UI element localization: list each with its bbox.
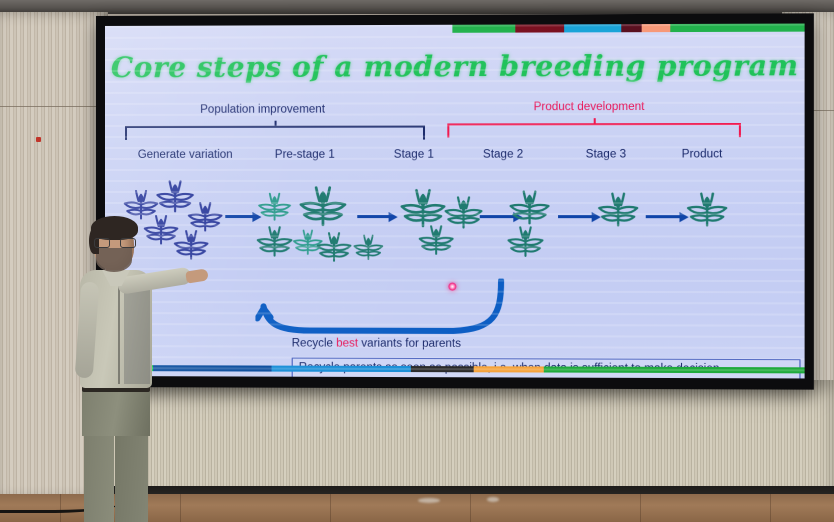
recycle-caption: Recycle best variants for parents xyxy=(292,338,461,351)
plant-icon xyxy=(595,188,642,233)
glasses-icon xyxy=(94,238,136,248)
bracket-product-development xyxy=(447,123,741,138)
plant-icon xyxy=(684,188,731,234)
wall-panel-below-screen xyxy=(95,380,834,490)
shirt-placket xyxy=(118,278,120,384)
stage-label-product: Product xyxy=(682,148,723,160)
plant-icon xyxy=(253,222,295,263)
slide-title: Core steps of a modern breeding program xyxy=(105,49,805,84)
stage-label-pre-stage-1: Pre-stage 1 xyxy=(275,149,335,161)
ceiling xyxy=(0,0,834,14)
conference-room: Core steps of a modern breeding program … xyxy=(0,0,834,522)
floor-reflection xyxy=(418,498,440,503)
flow-arrow xyxy=(646,212,689,220)
plant-icon xyxy=(314,228,354,268)
flow-arrow xyxy=(357,212,397,220)
floor-reflection xyxy=(487,497,499,502)
presentation-slide[interactable]: Core steps of a modern breeding program … xyxy=(105,24,805,379)
presenter xyxy=(58,212,188,512)
plant-icon xyxy=(416,221,457,261)
stage-label-stage-2: Stage 2 xyxy=(483,149,523,161)
recycle-prefix: Recycle xyxy=(292,338,336,350)
leg-right xyxy=(115,428,148,522)
recycle-loop-arrow xyxy=(255,278,506,341)
bracket-tick xyxy=(594,118,596,125)
plant-icon xyxy=(504,222,547,263)
slide-bottom-color-bar xyxy=(105,365,805,373)
slide-top-color-bar xyxy=(452,24,804,33)
plant-icon xyxy=(351,231,385,266)
plant-icon xyxy=(296,181,350,233)
leg-left xyxy=(84,428,114,522)
wall-seam xyxy=(0,106,108,107)
stage-label-stage-1: Stage 1 xyxy=(394,149,434,161)
recycle-suffix: variants for parents xyxy=(358,338,461,350)
recycle-highlight: best xyxy=(336,338,358,350)
trousers xyxy=(82,388,150,436)
display-screen-bezel: Core steps of a modern breeding program … xyxy=(96,13,814,389)
beard xyxy=(96,248,132,272)
stage-label-stage-3: Stage 3 xyxy=(586,148,626,160)
shirt-shadow xyxy=(124,284,150,384)
bracket-population-improvement xyxy=(125,126,425,140)
wall-marker-dot xyxy=(36,137,41,142)
group-label-population-improvement: Population improvement xyxy=(200,104,325,116)
bracket-tick xyxy=(275,121,277,128)
stage-label-generate-variation: Generate variation xyxy=(138,149,233,161)
group-label-product-development: Product development xyxy=(534,101,645,113)
